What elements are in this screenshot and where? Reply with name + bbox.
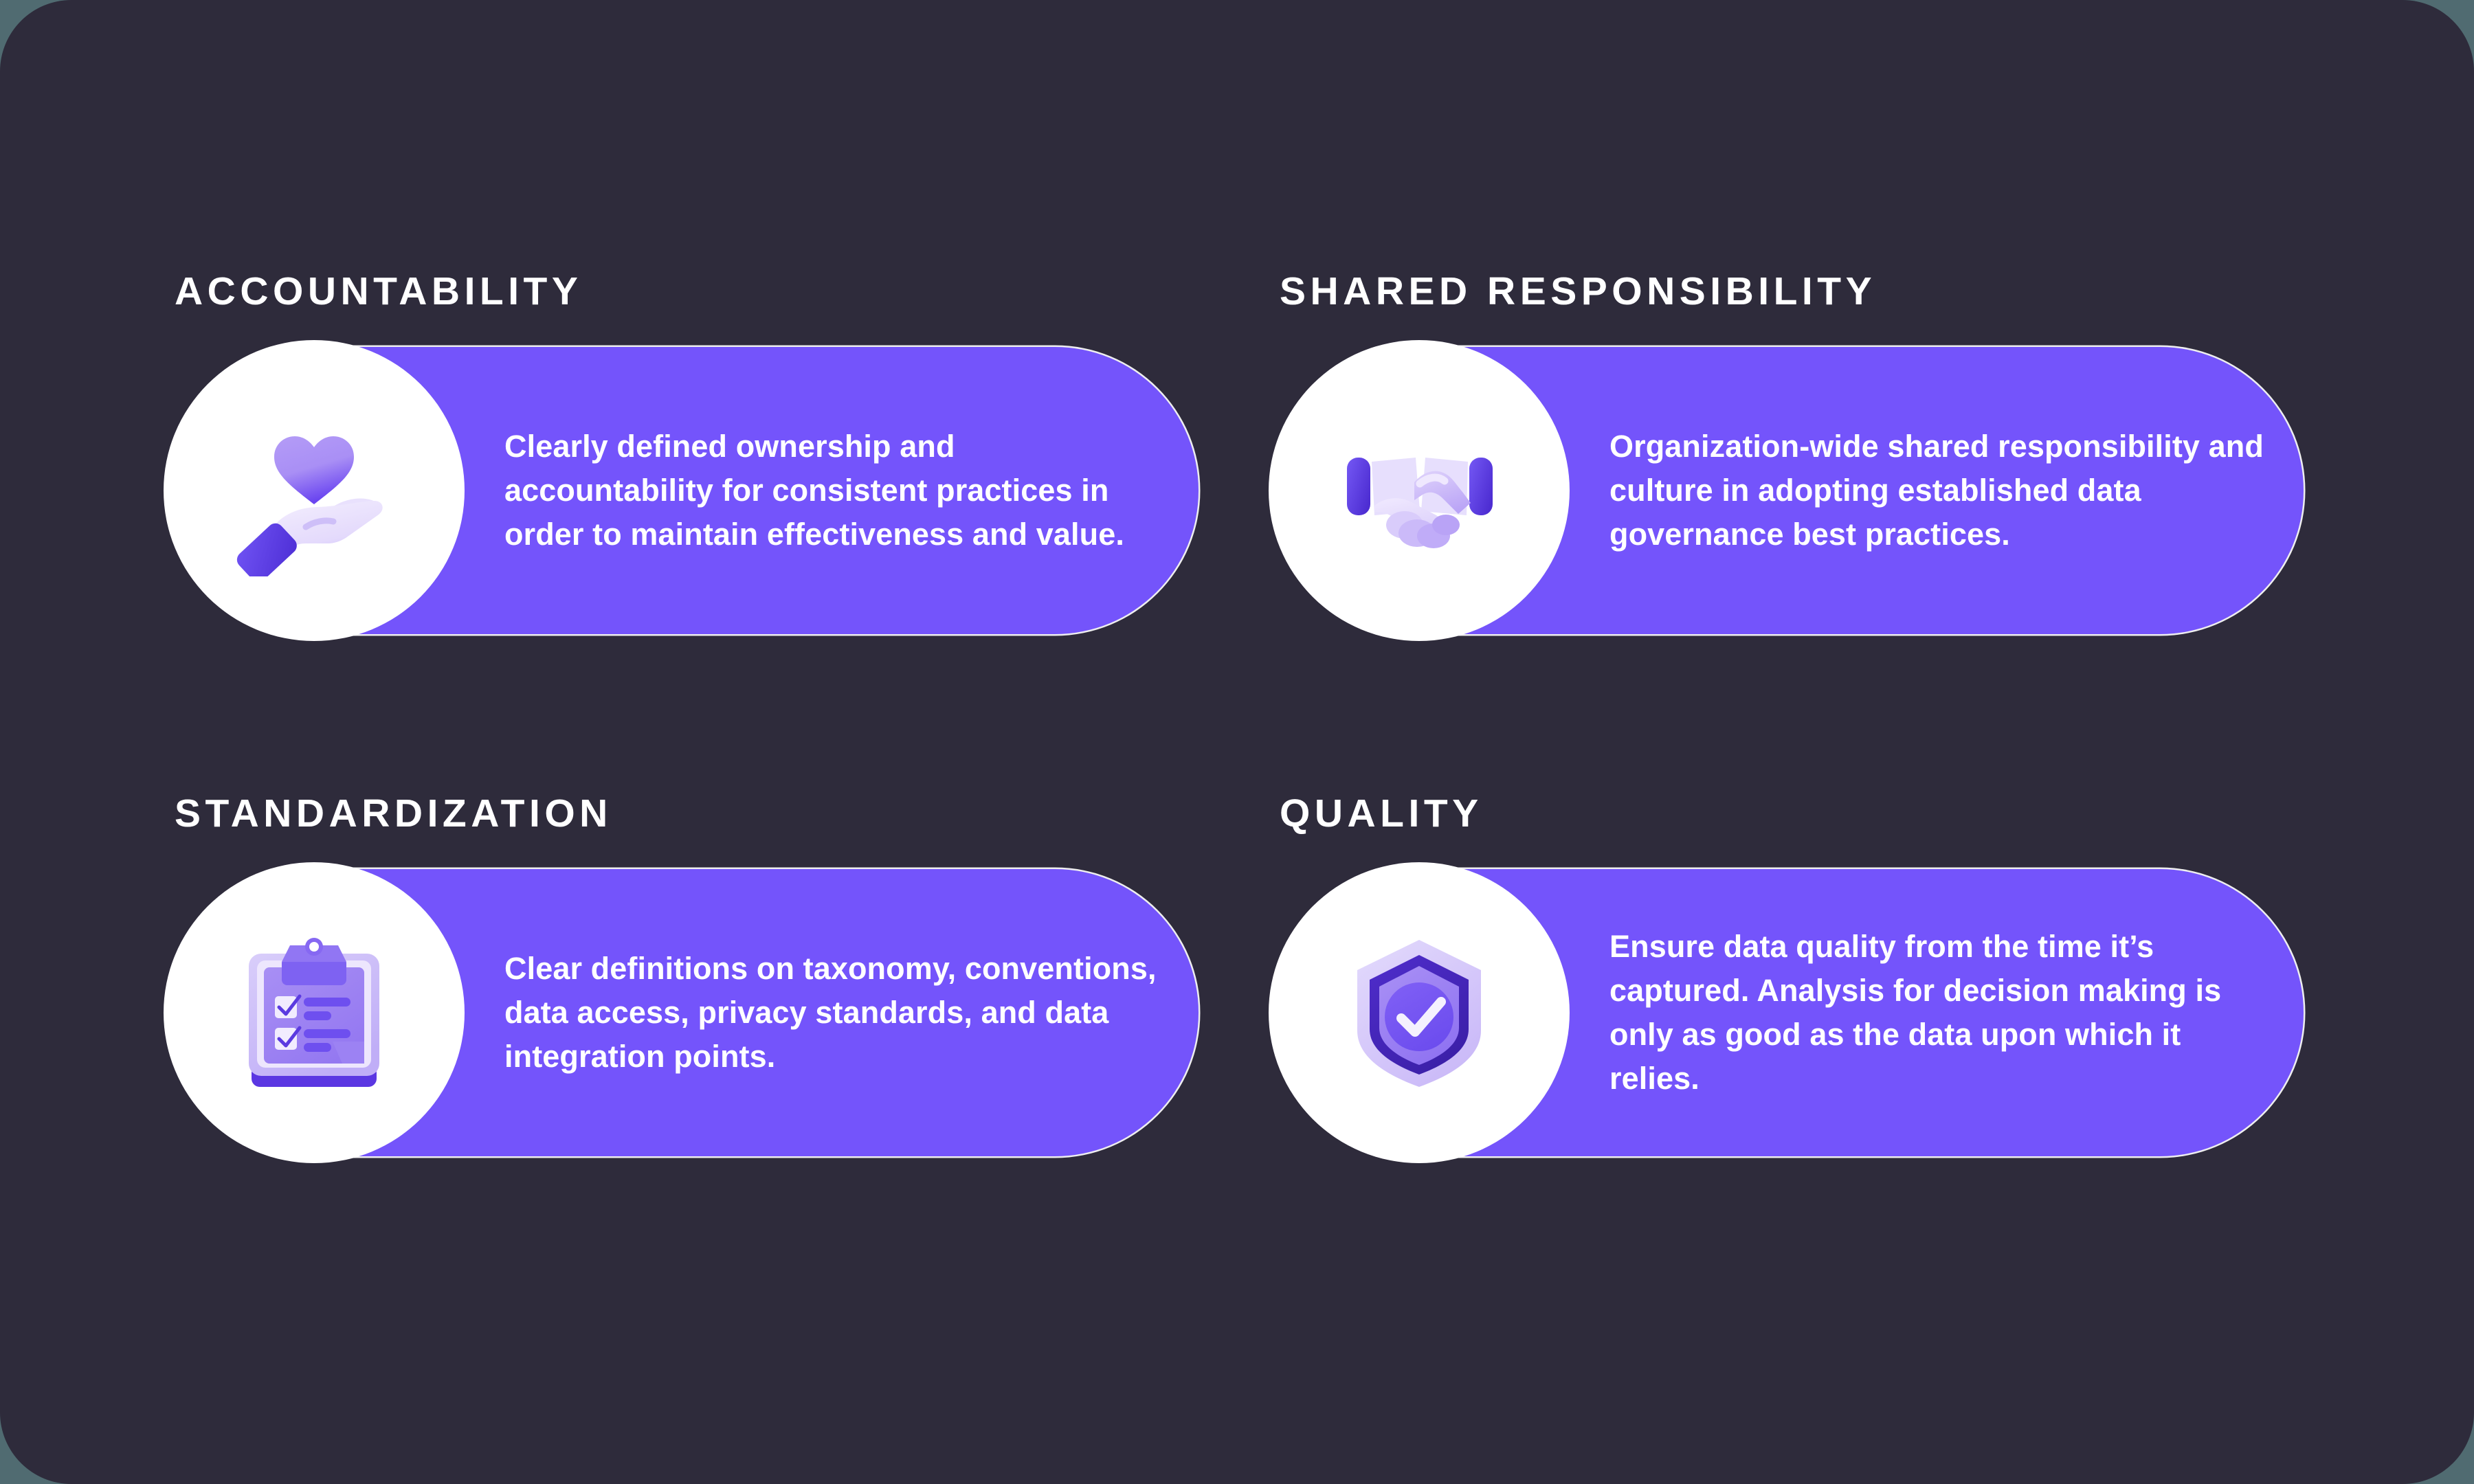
card-title: STANDARDIZATION [175,794,1199,833]
card-pill: Organization-wide shared responsibility … [1275,347,2304,634]
heart-in-hand-icon [164,340,465,641]
card-pill: Ensure data quality from the time it’s c… [1275,869,2304,1156]
card-title: ACCOUNTABILITY [175,272,1199,311]
card-body: Clear definitions on taxonomy, conventio… [504,947,1161,1079]
card-body: Organization-wide shared responsibility … [1609,425,2266,556]
clipboard-checklist-icon [164,862,465,1163]
card-title: QUALITY [1280,794,2304,833]
infographic-canvas: ACCOUNTABILITY [0,0,2474,1484]
card-body: Ensure data quality from the time it’s c… [1609,925,2266,1101]
card-pill: Clearly defined ownership and accountabi… [170,347,1199,634]
card-title: SHARED RESPONSIBILITY [1280,272,2304,311]
card-shared-responsibility: SHARED RESPONSIBILITY [1275,272,2304,698]
card-pill: Clear definitions on taxonomy, conventio… [170,869,1199,1156]
card-quality: QUALITY [1275,794,2304,1220]
handshake-icon [1269,340,1570,641]
card-standardization: STANDARDIZATION [170,794,1199,1220]
shield-check-icon [1269,862,1570,1163]
card-accountability: ACCOUNTABILITY [170,272,1199,698]
card-body: Clearly defined ownership and accountabi… [504,425,1161,556]
principles-grid: ACCOUNTABILITY [170,272,2304,1220]
